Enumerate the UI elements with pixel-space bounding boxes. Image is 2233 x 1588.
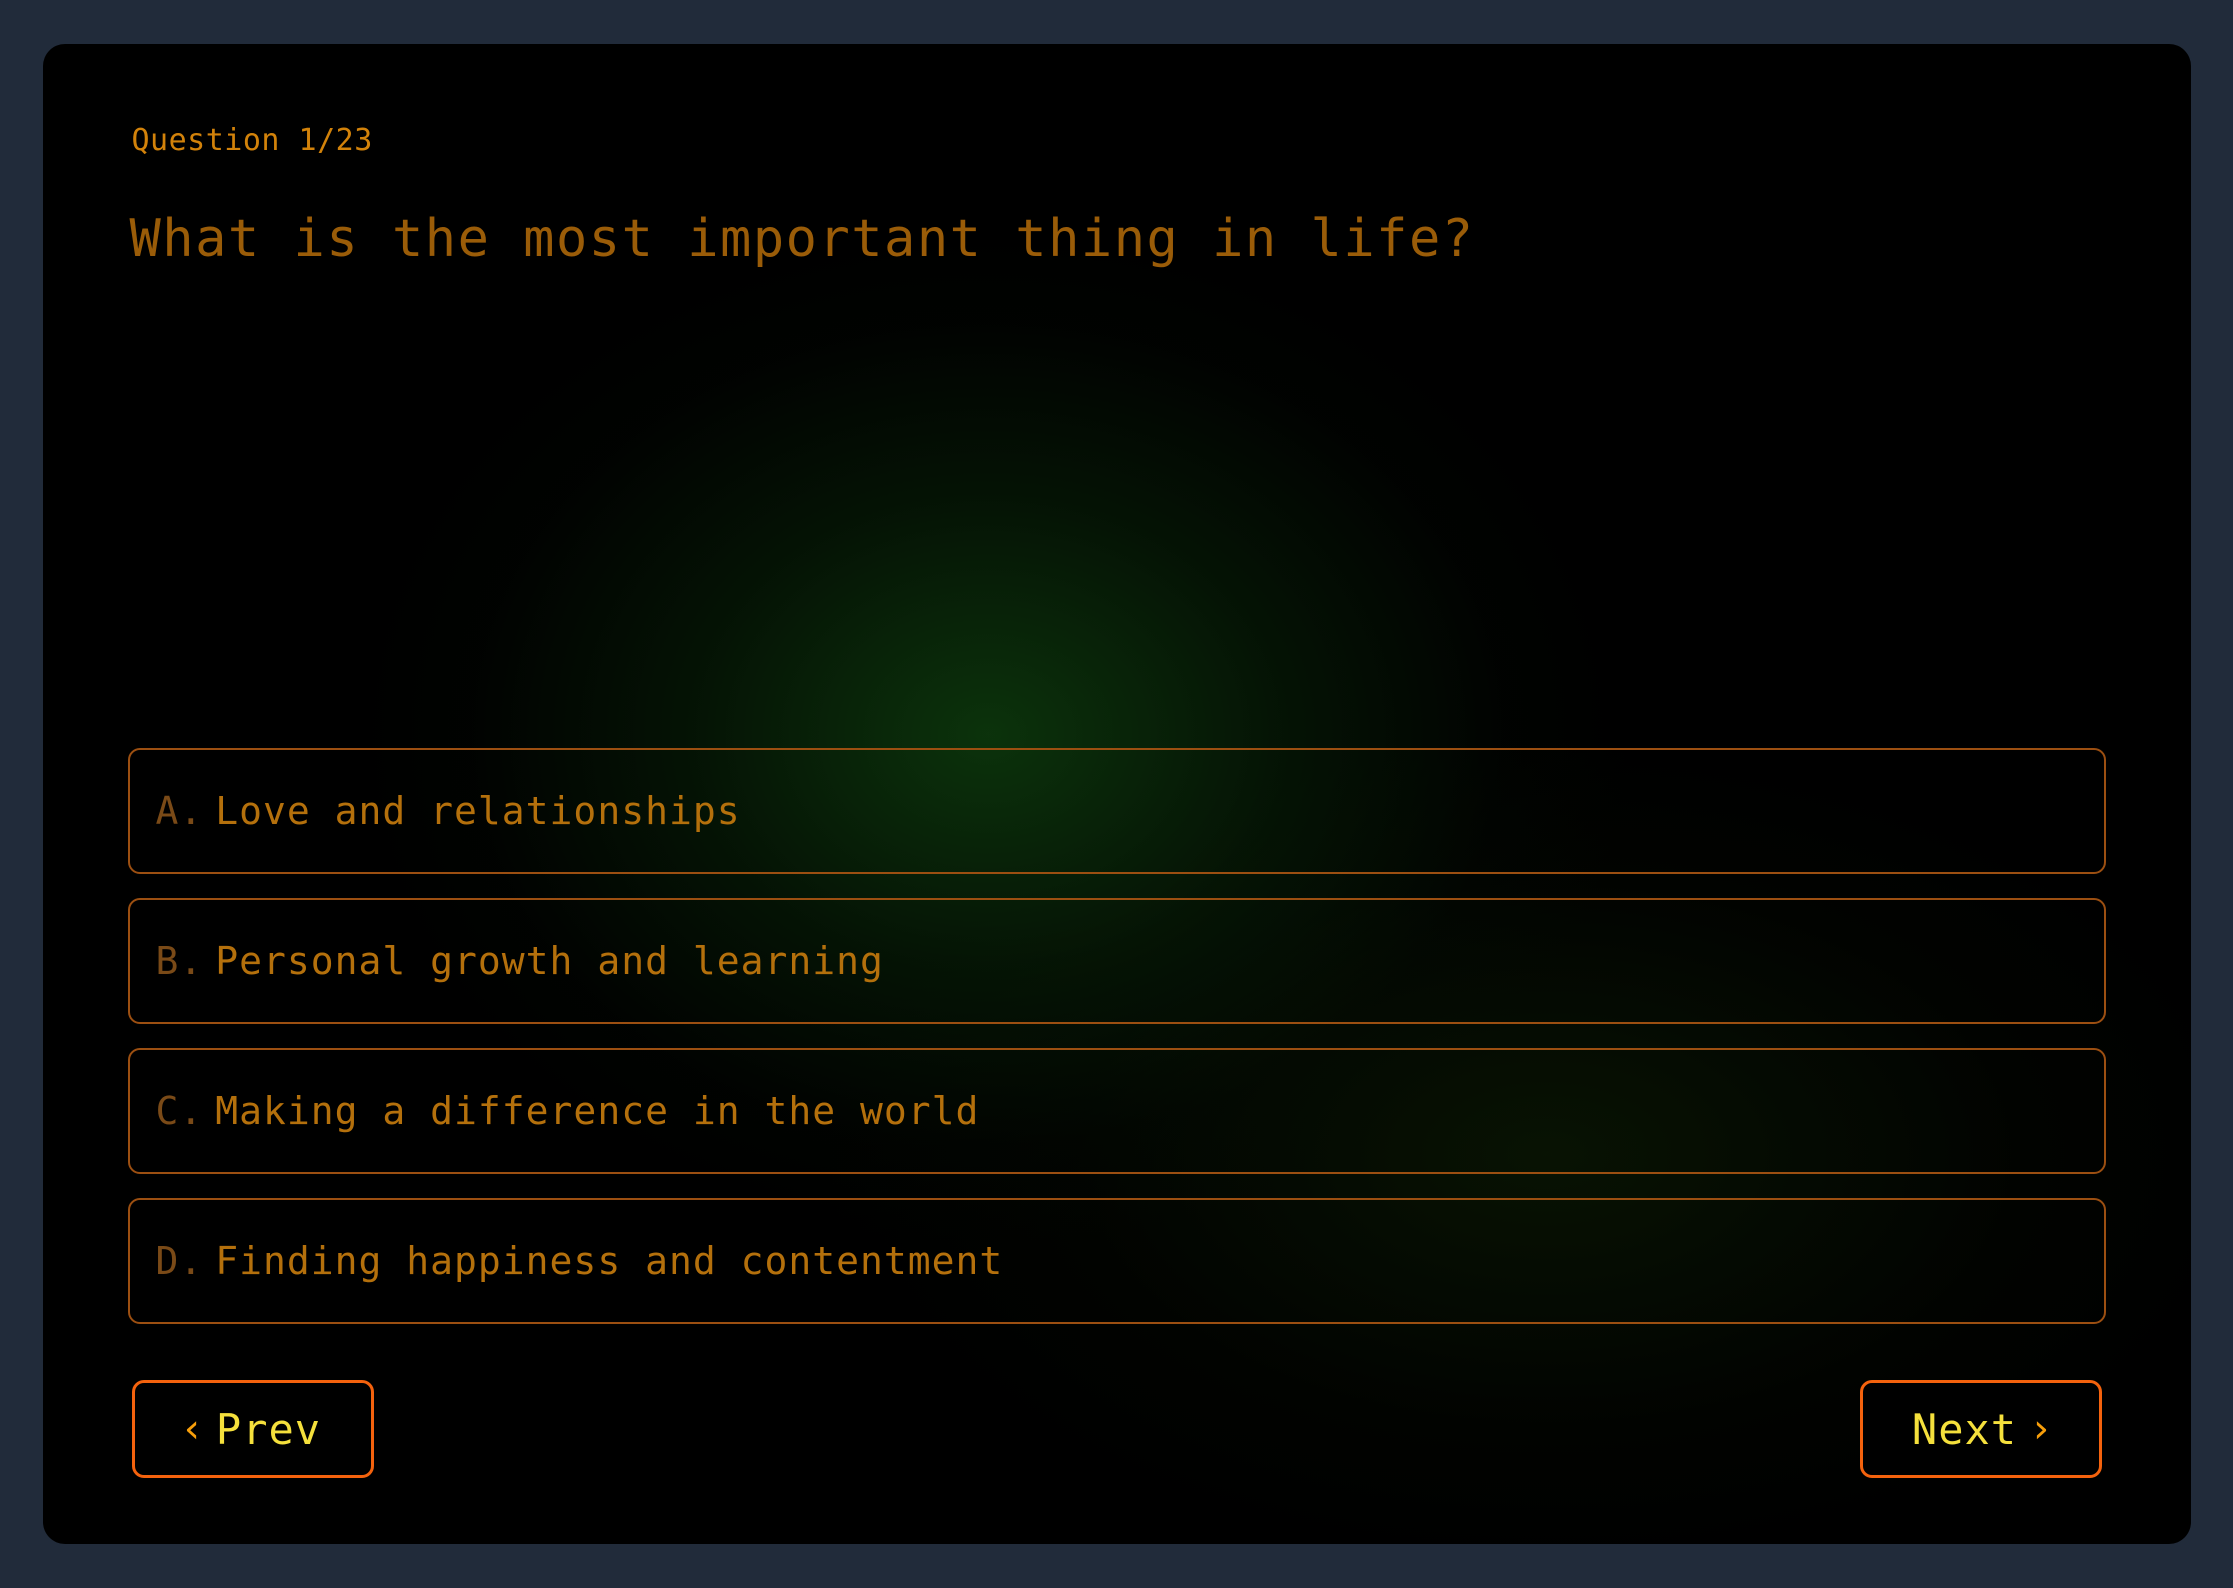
option-text-a: Love and relationships <box>215 789 740 833</box>
navigation-row: ‹ Prev Next › <box>128 1380 2106 1478</box>
chevron-right-icon: › <box>2033 1409 2049 1449</box>
option-letter-c: C. <box>156 1089 204 1133</box>
option-text-b: Personal growth and learning <box>215 939 884 983</box>
question-title: What is the most important thing in life… <box>130 210 2106 268</box>
next-button-label: Next <box>1912 1405 2017 1454</box>
content-spacer <box>128 268 2106 748</box>
next-button[interactable]: Next › <box>1860 1380 2102 1478</box>
chevron-left-icon: ‹ <box>184 1409 200 1449</box>
question-counter: Question 1/23 <box>132 126 2106 156</box>
prev-button-label: Prev <box>216 1405 321 1454</box>
answer-option-b[interactable]: B. Personal growth and learning <box>128 898 2106 1024</box>
option-letter-a: A. <box>156 789 204 833</box>
prev-button[interactable]: ‹ Prev <box>132 1380 374 1478</box>
option-letter-d: D. <box>156 1239 204 1283</box>
answer-options-list: A. Love and relationships B. Personal gr… <box>128 748 2106 1324</box>
quiz-card: Question 1/23 What is the most important… <box>43 44 2191 1544</box>
answer-option-a[interactable]: A. Love and relationships <box>128 748 2106 874</box>
answer-option-d[interactable]: D. Finding happiness and contentment <box>128 1198 2106 1324</box>
option-letter-b: B. <box>156 939 204 983</box>
answer-option-c[interactable]: C. Making a difference in the world <box>128 1048 2106 1174</box>
option-text-d: Finding happiness and contentment <box>215 1239 1003 1283</box>
option-text-c: Making a difference in the world <box>215 1089 979 1133</box>
